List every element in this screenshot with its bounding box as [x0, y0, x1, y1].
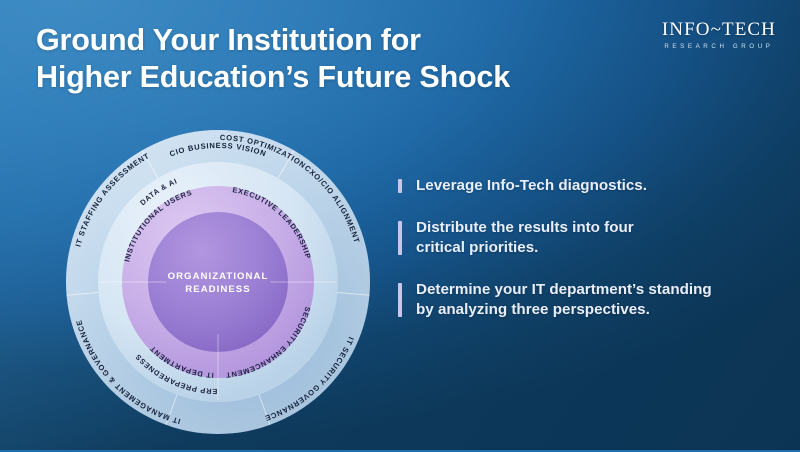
center-label-line1: ORGANIZATIONAL [168, 271, 269, 282]
info-tech-logo: INFO~TECH RESEARCH GROUP [662, 20, 776, 50]
bullet-text: Distribute the results into four critica… [416, 218, 780, 258]
list-item: Leverage Info-Tech diagnostics. [398, 176, 780, 196]
bullet-text: Leverage Info-Tech diagnostics. [416, 176, 780, 196]
bullet-text: Determine your IT department’s standing … [416, 280, 780, 320]
list-item: Determine your IT department’s standing … [398, 280, 780, 320]
page-title: Ground Your Institution for Higher Educa… [36, 22, 596, 96]
center-label-line2: READINESS [185, 284, 250, 295]
bullet-bar-icon [398, 283, 402, 317]
organizational-readiness-diagram: CIO BUSINESS VISION COST OPTIMIZATION CX… [48, 112, 388, 452]
page-title-line2: Higher Education’s Future Shock [36, 59, 596, 96]
logo-wordmark: INFO~TECH [662, 20, 776, 39]
core-circle [148, 212, 288, 352]
logo-tagline: RESEARCH GROUP [662, 43, 776, 50]
page-title-line1: Ground Your Institution for [36, 23, 421, 57]
list-item: Distribute the results into four critica… [398, 218, 780, 258]
bullet-bar-icon [398, 179, 402, 193]
key-takeaways-list: Leverage Info-Tech diagnostics. Distribu… [398, 176, 780, 320]
bullet-bar-icon [398, 221, 402, 255]
